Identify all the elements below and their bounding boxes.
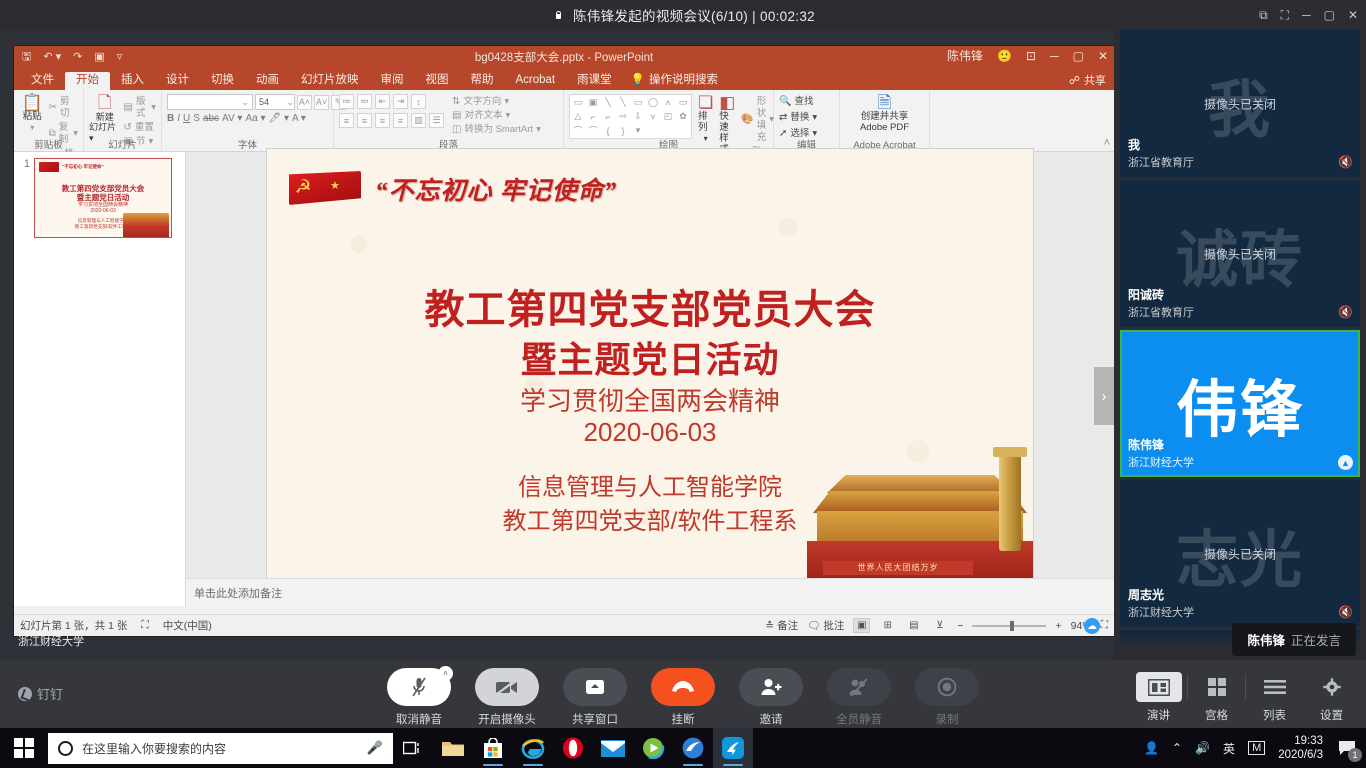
gear-glyph <box>1323 678 1341 696</box>
new-slide-button[interactable]: 🗋 新建幻灯片 ▾ <box>89 94 120 143</box>
slide-thumbnail-item[interactable]: 1 “不忘初心 牢记使命” 教工第四党支部党员大会 暨主题党日活动 学习贯彻全国… <box>14 152 185 238</box>
meeting-control-bar: 钉钉 ˄ 取消静音 <box>0 660 1366 728</box>
gate-banner-text: 世界人民大团结万岁 <box>823 561 973 575</box>
lightbulb-icon: 💡 <box>631 72 645 86</box>
align-text-button[interactable]: ▤对齐文本▾ <box>452 110 541 122</box>
mute-all-label: 全员静音 <box>836 711 882 727</box>
ribbon-group-label-slides: 幻灯片 <box>84 137 161 151</box>
tiananmen-illustration: 世界人民大团结万岁 <box>783 446 1033 581</box>
ribbon-group-label-clipboard: 剪贴板 <box>14 137 83 151</box>
participant-name: 我 <box>1128 136 1140 153</box>
tab-transitions[interactable]: 切换 <box>200 72 245 91</box>
invite-glyph <box>760 677 782 697</box>
slide-sorter-view-button[interactable]: ⊞ <box>879 618 896 633</box>
shape-fill-icon: 🎨 <box>741 114 753 126</box>
slide-date: 2020-06-03 <box>267 417 1033 448</box>
tab-insert[interactable]: 插入 <box>110 72 155 91</box>
tab-slideshow[interactable]: 幻灯片放映 <box>290 72 370 91</box>
next-slide-arrow[interactable]: › <box>1094 367 1114 425</box>
ppt-minimize-icon[interactable]: ─ <box>1050 49 1059 63</box>
powerpoint-body: 1 “不忘初心 牢记使命” 教工第四党支部党员大会 暨主题党日活动 学习贯彻全国… <box>14 152 1114 636</box>
windows-logo-icon <box>14 738 34 758</box>
numbering-button[interactable]: ≕ <box>357 94 372 109</box>
participant-tile[interactable]: 我 摄像头已关闭 我 浙江省教育厅 🔇 <box>1120 30 1360 177</box>
meeting-title: 陈伟锋发起的视频会议(6/10) | 00:02:32 <box>573 5 815 25</box>
start-button[interactable] <box>0 728 48 768</box>
tab-file[interactable]: 文件 <box>20 72 65 91</box>
increase-indent-button[interactable]: ⇥ <box>393 94 408 109</box>
participant-tile[interactable]: 志光 摄像头已关闭 周志光 浙江财经大学 🔇 <box>1120 480 1360 627</box>
search-placeholder: 在这里输入你要搜索的内容 <box>82 740 358 757</box>
share-screen-icon <box>563 668 627 706</box>
status-bar-right: ≛ 备注 🗨 批注 ▣ ⊞ ▤ ⊻ − + 94% ⛶ <box>765 618 1108 633</box>
language-label[interactable]: 中文(中国) <box>163 618 212 633</box>
ribbon-tabs: 文件 开始 插入 设计 切换 动画 幻灯片放映 审阅 视图 帮助 Acrobat… <box>14 68 1114 90</box>
speaker-view-glyph <box>1148 679 1170 696</box>
mute-all-button[interactable]: 全员静音 <box>826 668 892 727</box>
grid-view-button[interactable]: 宫格 <box>1188 668 1245 723</box>
arrange-icon: ❏ <box>698 94 713 112</box>
decrease-font-size-button[interactable]: A˅ <box>314 95 329 110</box>
mic-muted-icon: 🔇 <box>1338 155 1352 169</box>
font-color-button[interactable]: A ▾ <box>292 113 306 124</box>
ribbon-display-options-icon[interactable]: ⊡ <box>1026 49 1036 63</box>
hangup-label: 挂断 <box>672 711 695 727</box>
align-right-button[interactable]: ≡ <box>375 113 390 128</box>
replace-icon: ⇄ <box>779 112 787 124</box>
speaking-status: 正在发言 <box>1291 634 1341 648</box>
share-window-label: 共享窗口 <box>572 711 618 727</box>
ribbon-group-font: ⌄ 54⌄ A˄ A˅ ✎ B I U S abc AV ▾ Aa ▾ <box>162 90 334 152</box>
camera-off-label: 摄像头已关闭 <box>1120 245 1360 262</box>
tab-acrobat[interactable]: Acrobat <box>505 72 567 91</box>
fullscreen-icon[interactable]: ⛶ <box>1281 9 1289 21</box>
meeting-window-buttons: ⧉ ⛶ ─ ▢ ✕ <box>1259 0 1358 30</box>
font-name-input[interactable]: ⌄ <box>167 94 253 110</box>
slide-thumbnail-preview[interactable]: “不忘初心 牢记使命” 教工第四党支部党员大会 暨主题党日活动 学习贯彻全国两会… <box>34 158 172 238</box>
start-camera-button[interactable]: 开启摄像头 <box>474 668 540 727</box>
view-mode-buttons: 演讲 宫格 <box>1130 668 1360 723</box>
microsoft-store-icon[interactable] <box>473 728 513 768</box>
notification-count: 1 <box>1348 748 1362 762</box>
paste-icon: 📋 <box>22 94 43 112</box>
camera-glyph <box>495 678 519 696</box>
mic-muted-icon: 🔇 <box>1338 305 1352 319</box>
list-view-icon <box>1252 672 1298 702</box>
camera-off-icon <box>475 668 539 706</box>
speaker-view-button[interactable]: 演讲 <box>1130 668 1187 723</box>
close-icon[interactable]: ✕ <box>1348 9 1358 21</box>
paste-button[interactable]: 📋 粘贴 ▾ <box>19 94 46 132</box>
record-label: 录制 <box>936 711 959 727</box>
screen-root: 陈伟锋发起的视频会议(6/10) | 00:02:32 ⧉ ⛶ ─ ▢ ✕ 🖫 … <box>0 0 1366 768</box>
ribbon-group-editing: 🔍查找 ⇄替换▾ ➚选择▾ 编辑 <box>774 90 840 152</box>
file-explorer-icon[interactable] <box>433 728 473 768</box>
italic-button[interactable]: I <box>177 113 180 124</box>
speaking-name: 陈伟锋 <box>1247 634 1285 648</box>
arrange-button[interactable]: ❏ 排列▾ <box>698 94 713 143</box>
share-glyph <box>584 678 606 696</box>
speaker-view-label: 演讲 <box>1147 707 1170 723</box>
font-size-input[interactable]: 54⌄ <box>255 94 295 110</box>
system-tray: 👤 ⌃ 🔊 英 M 19:33 2020/6/3 1 <box>1144 734 1366 762</box>
tab-design[interactable]: 设计 <box>155 72 200 91</box>
slide-thumbnail-number: 1 <box>20 158 30 238</box>
tab-help[interactable]: 帮助 <box>460 72 505 91</box>
tab-review[interactable]: 审阅 <box>370 72 415 91</box>
slide-title-line2: 暨主题党日活动 <box>267 331 1033 383</box>
align-left-button[interactable]: ≡ <box>339 113 354 128</box>
zoom-slider[interactable] <box>972 625 1046 627</box>
notes-placeholder[interactable]: 单击此处添加备注 <box>186 578 1114 606</box>
windows-taskbar: 在这里输入你要搜索的内容 🎤 <box>0 728 1366 768</box>
star-icon: ★ <box>330 179 340 192</box>
tiananmen-illustration <box>123 213 169 237</box>
sharing-icon: ▲ <box>1338 455 1353 470</box>
invite-button[interactable]: 邀请 <box>738 668 804 727</box>
participant-tile-active-speaker[interactable]: 伟锋 陈伟锋 浙江财经大学 ▲ <box>1120 330 1360 477</box>
microphone-icon[interactable]: 🎤 <box>367 740 383 756</box>
search-icon: 🔍 <box>779 96 791 108</box>
record-icon <box>915 668 979 706</box>
tab-view[interactable]: 视图 <box>415 72 460 91</box>
tab-animations[interactable]: 动画 <box>245 72 290 91</box>
hangup-button[interactable]: 挂断 <box>650 668 716 727</box>
save-icon[interactable]: 🖫 <box>22 52 31 63</box>
ribbon-group-paragraph: ≔ ≕ ⇤ ⇥ ↕ ≡ ≡ ≡ ≡ ▥ ☰ <box>334 90 564 152</box>
fit-slide-button[interactable]: ⛶ <box>1101 619 1108 632</box>
people-icon[interactable]: 👤 <box>1144 741 1159 755</box>
zoom-out-button[interactable]: − <box>957 620 963 632</box>
participant-org: 浙江财经大学 <box>1128 454 1194 470</box>
redo-icon[interactable]: ↷ <box>73 52 82 63</box>
slideshow-view-button[interactable]: ⊻ <box>931 618 948 633</box>
invite-user-icon <box>739 668 803 706</box>
ppt-user-name[interactable]: 陈伟锋 <box>947 47 983 64</box>
invite-label: 邀请 <box>760 711 783 727</box>
accessibility-icon[interactable]: ⛶ <box>141 619 148 632</box>
clock-date: 2020/6/3 <box>1278 748 1323 762</box>
tell-me-search[interactable]: 💡 操作说明搜索 <box>623 68 726 90</box>
normal-view-button[interactable]: ▣ <box>853 618 870 633</box>
slide-count-label: 幻灯片第 1 张，共 1 张 <box>20 618 127 633</box>
avatar[interactable]: 🙂 <box>997 49 1012 63</box>
notes-toggle-button[interactable]: ≛ 备注 <box>765 618 798 633</box>
bold-button[interactable]: B <box>167 113 174 124</box>
layout-button[interactable]: ▤版式▾ <box>123 96 156 120</box>
unmute-button[interactable]: ˄ 取消静音 <box>386 668 452 727</box>
party-flag-icon <box>39 162 59 172</box>
increase-font-size-button[interactable]: A˄ <box>297 95 312 110</box>
powerpoint-status-bar: 幻灯片第 1 张，共 1 张 ⛶ 中文(中国) ≛ 备注 🗨 批注 ▣ ⊞ ▤ … <box>14 614 1114 636</box>
smartart-icon: ◫ <box>452 124 461 136</box>
ppt-restore-icon[interactable]: ▢ <box>1073 49 1084 63</box>
grid-view-label: 宫格 <box>1205 707 1228 723</box>
participant-name: 周志光 <box>1128 586 1164 603</box>
list-view-button[interactable]: 列表 <box>1246 668 1303 723</box>
shapes-gallery[interactable]: ▭▣╲╲▭◯˄ ▭△⌐⌐⇨⇩˅ ◰✿⌒⌒{}▾ <box>569 94 692 139</box>
slide-title-line1: 教工第四党支部党员大会 <box>267 277 1033 335</box>
slide-canvas[interactable]: ☭ ★ “不忘初心 牢记使命” 教工第四党支部党员大会 暨主题党日活动 学习贯彻… <box>267 149 1033 581</box>
slide-stage: ☭ ★ “不忘初心 牢记使命” 教工第四党支部党员大会 暨主题党日活动 学习贯彻… <box>186 152 1114 578</box>
opera-icon[interactable] <box>553 728 593 768</box>
camera-off-label: 摄像头已关闭 <box>1120 545 1360 562</box>
participant-initials: 伟锋 <box>1120 359 1360 449</box>
participant-org: 浙江省教育厅 <box>1128 304 1194 320</box>
tell-me-label: 操作说明搜索 <box>649 71 718 87</box>
underline-button[interactable]: U <box>183 113 190 124</box>
clock-time: 19:33 <box>1294 734 1323 748</box>
notification-center-button[interactable]: 1 <box>1336 737 1358 759</box>
cut-button[interactable]: ✂剪切 <box>49 96 78 120</box>
layout-icon: ▤ <box>123 102 132 114</box>
ppt-close-icon[interactable]: ✕ <box>1098 49 1108 63</box>
mic-glyph <box>411 676 427 698</box>
clock[interactable]: 19:33 2020/6/3 <box>1278 734 1323 762</box>
powerpoint-window: 🖫 ↶ ▾ ↷ ▣ ▿ bg0428支部大会.pptx - PowerPoint… <box>14 46 1114 636</box>
columns-button[interactable]: ▥ <box>411 113 426 128</box>
reading-view-button[interactable]: ▤ <box>905 618 922 633</box>
participant-org: 浙江省教育厅 <box>1128 154 1194 170</box>
bullets-button[interactable]: ≔ <box>339 94 354 109</box>
ime-language-indicator[interactable]: 英 <box>1223 740 1235 757</box>
unmute-label: 取消静音 <box>396 711 442 727</box>
tab-rain-classroom[interactable]: 雨课堂 <box>566 72 623 91</box>
comments-toggle-button[interactable]: 🗨 批注 <box>807 618 844 633</box>
scissors-icon: ✂ <box>49 102 57 114</box>
meeting-title-bar: 陈伟锋发起的视频会议(6/10) | 00:02:32 ⧉ ⛶ ─ ▢ ✕ <box>0 0 1366 30</box>
participant-name: 阳诚砖 <box>1128 286 1164 303</box>
lock-icon <box>551 7 566 24</box>
mute-all-icon <box>827 668 891 706</box>
zoom-in-button[interactable]: + <box>1055 620 1061 632</box>
minimize-icon[interactable]: ─ <box>1302 9 1311 21</box>
tab-home[interactable]: 开始 <box>65 72 110 91</box>
mute-all-glyph <box>848 677 870 697</box>
convert-smartart-button[interactable]: ◫转换为 SmartArt▾ <box>452 124 541 136</box>
share-label: 共享 <box>1084 72 1106 88</box>
camera-off-label: 摄像头已关闭 <box>1120 95 1360 112</box>
change-case-button[interactable]: Aa ▾ <box>245 113 265 124</box>
cortana-icon <box>58 741 73 756</box>
decrease-indent-button[interactable]: ⇤ <box>375 94 390 109</box>
find-button[interactable]: 🔍查找 <box>779 96 817 108</box>
record-button[interactable]: 录制 <box>914 668 980 727</box>
quick-access-toolbar: 🖫 ↶ ▾ ↷ ▣ ▿ bg0428支部大会.pptx - PowerPoint… <box>14 46 1114 68</box>
share-window-button[interactable]: 共享窗口 <box>562 668 628 727</box>
customize-qat-icon[interactable]: ▿ <box>117 52 123 63</box>
ribbon-group-slides: 🗋 新建幻灯片 ▾ ▤版式▾ ↺重置 ▣节▾ 幻灯片 <box>84 90 162 152</box>
record-glyph <box>937 677 957 697</box>
foxmail-icon[interactable] <box>673 728 713 768</box>
slide-thumbnail-pane[interactable]: 1 “不忘初心 牢记使命” 教工第四党支部党员大会 暨主题党日活动 学习贯彻全国… <box>14 152 186 606</box>
strikethrough-button[interactable]: abc <box>203 113 219 124</box>
participant-tile[interactable]: 诚砖 摄像头已关闭 阳诚砖 浙江省教育厅 🔇 <box>1120 180 1360 327</box>
speaking-toast: 陈伟锋正在发言 <box>1232 623 1356 656</box>
speaker-view-icon <box>1136 672 1182 702</box>
start-slideshow-icon[interactable]: ▣ <box>94 52 104 63</box>
task-view-icon[interactable] <box>393 728 433 768</box>
collapse-ribbon-icon[interactable]: ˄ <box>1104 137 1110 149</box>
align-center-button[interactable]: ≡ <box>357 113 372 128</box>
character-spacing-button[interactable]: AV ▾ <box>222 113 242 124</box>
gear-icon <box>1309 672 1355 702</box>
reset-icon: ↺ <box>123 122 131 134</box>
align-text-icon: ▤ <box>452 110 461 122</box>
share-button[interactable]: ☍ 共享 <box>1069 72 1106 88</box>
mic-muted-icon: ˄ <box>387 668 451 706</box>
text-direction-button[interactable]: ⇅文字方向▾ <box>452 96 541 108</box>
settings-button[interactable]: 设置 <box>1303 668 1360 723</box>
quick-styles-icon: ◧ <box>719 94 735 112</box>
volume-icon[interactable]: 🔊 <box>1195 741 1210 755</box>
picture-in-picture-icon[interactable]: ⧉ <box>1259 9 1268 21</box>
mic-options-caret-icon[interactable]: ˄ <box>438 666 453 681</box>
grid-view-glyph <box>1207 677 1227 697</box>
thumb-banner: “不忘初心 牢记使命” <box>39 162 104 172</box>
ribbon-group-acrobat: 🗎 创建并共享 Adobe PDF Adobe Acrobat <box>840 90 930 152</box>
ribbon-group-drawing: ▭▣╲╲▭◯˄ ▭△⌐⌐⇨⇩˅ ◰✿⌒⌒{}▾ ❏ 排列▾ ◧ 快速样式▾ 🎨形… <box>564 90 774 152</box>
start-camera-label: 开启摄像头 <box>478 711 536 727</box>
dingtalk-float-icon[interactable]: ☁ <box>1084 618 1100 634</box>
presenter-overlay-name: 浙江财经大学 <box>18 633 84 649</box>
line-spacing-button[interactable]: ↕ <box>411 94 426 109</box>
participant-name: 陈伟锋 <box>1128 436 1164 453</box>
dingtalk-icon[interactable] <box>713 728 753 768</box>
text-direction-icon: ⇅ <box>452 96 460 108</box>
thumb-slogan: “不忘初心 牢记使命” <box>62 164 104 170</box>
reset-button[interactable]: ↺重置 <box>123 122 156 134</box>
participants-panel[interactable]: 我 摄像头已关闭 我 浙江省教育厅 🔇 诚砖 摄像头已关闭 阳诚砖 浙江省教育厅… <box>1114 30 1366 660</box>
chevron-up-icon[interactable]: ⌃ <box>1172 741 1182 755</box>
meeting-title-wrap: 陈伟锋发起的视频会议(6/10) | 00:02:32 <box>551 5 815 25</box>
ribbon: 📋 粘贴 ▾ ✂剪切 ⧉复制▾ 🖌格式刷 剪贴板 🗋 新 <box>14 90 1114 152</box>
media-player-icon[interactable] <box>633 728 673 768</box>
new-slide-icon: 🗋 <box>98 94 112 112</box>
hammer-sickle-icon: ☭ <box>292 177 314 199</box>
hangup-icon <box>651 668 715 706</box>
participant-org: 浙江财经大学 <box>1128 604 1194 620</box>
share-person-icon: ☍ <box>1069 74 1080 87</box>
internet-explorer-icon[interactable] <box>513 728 553 768</box>
hangup-glyph <box>670 680 696 694</box>
mail-icon[interactable] <box>593 728 633 768</box>
thumb-sub1: 学习贯彻全国两会精神 <box>35 201 171 208</box>
justify-button[interactable]: ≡ <box>393 113 408 128</box>
party-flag-icon: ☭ ★ <box>283 167 361 211</box>
ime-mode-indicator[interactable]: M <box>1248 741 1265 755</box>
ribbon-group-clipboard: 📋 粘贴 ▾ ✂剪切 ⧉复制▾ 🖌格式刷 剪贴板 <box>14 90 84 152</box>
ppt-window-controls: 陈伟锋 🙂 ⊡ ─ ▢ ✕ <box>947 47 1108 64</box>
text-highlight-button[interactable]: 🖊 ▾ <box>268 113 289 124</box>
pdf-icon: 🗎 <box>878 94 892 112</box>
list-view-glyph <box>1264 679 1286 695</box>
maximize-icon[interactable]: ▢ <box>1324 9 1335 21</box>
mic-muted-icon: 🔇 <box>1338 605 1352 619</box>
text-align-button[interactable]: ☰ <box>429 113 444 128</box>
create-share-pdf-button[interactable]: 🗎 创建并共享 Adobe PDF <box>845 94 924 134</box>
grid-view-icon <box>1194 672 1240 702</box>
undo-icon[interactable]: ↶ ▾ <box>43 52 61 63</box>
slide-subtitle-line1: 学习贯彻全国两会精神 <box>267 381 1033 418</box>
list-view-label: 列表 <box>1263 707 1286 723</box>
shadow-button[interactable]: S <box>193 113 200 124</box>
settings-label: 设置 <box>1320 707 1343 723</box>
replace-button[interactable]: ⇄替换▾ <box>779 112 817 124</box>
search-input[interactable]: 在这里输入你要搜索的内容 🎤 <box>48 733 393 764</box>
slide-banner-slogan: “不忘初心 牢记使命” <box>375 171 617 207</box>
